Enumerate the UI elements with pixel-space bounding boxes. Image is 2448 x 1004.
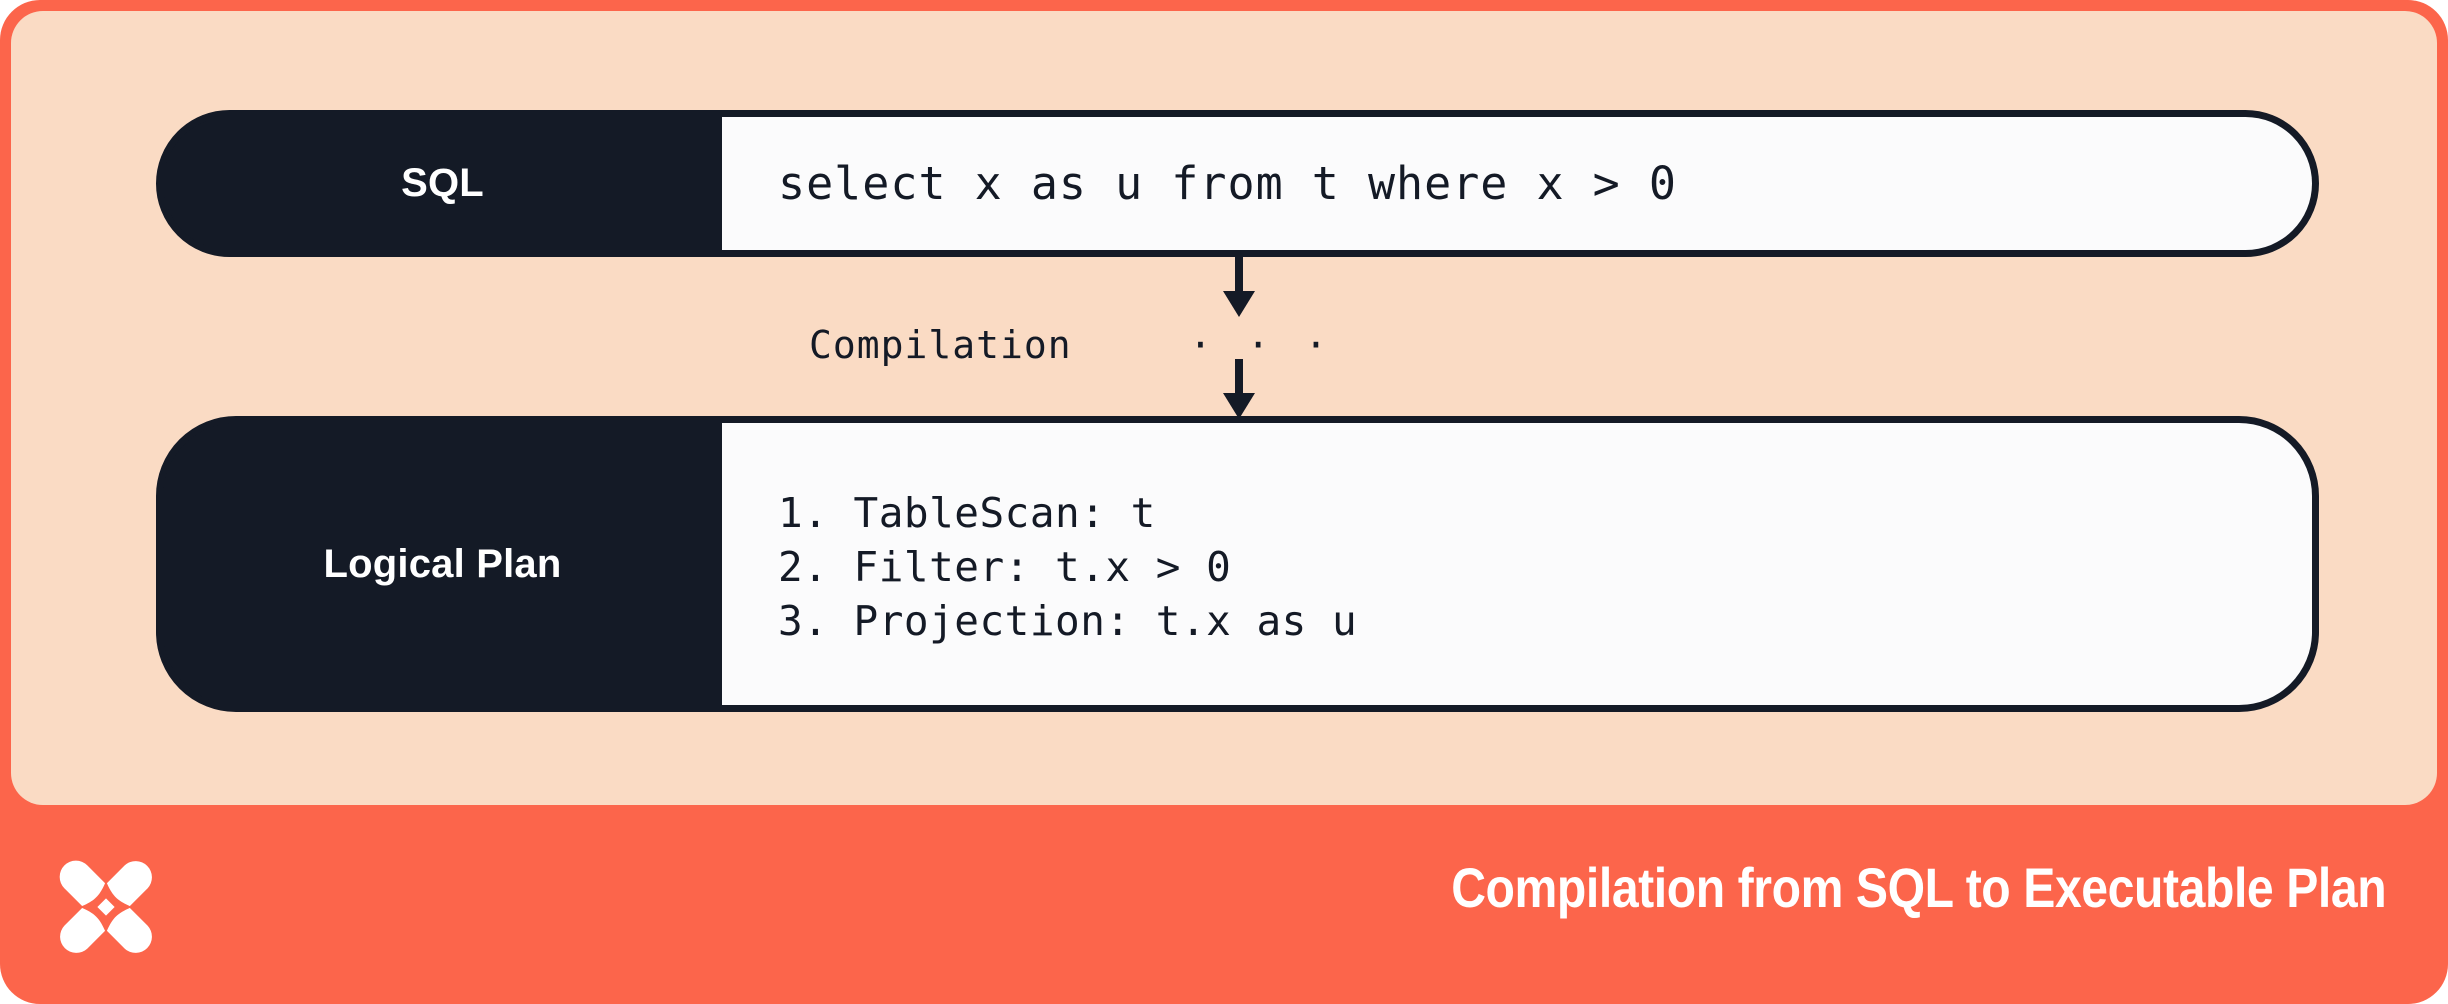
plan-step: 1. TableScan: t bbox=[778, 486, 2312, 540]
diagram-card: SQL select x as u from t where x > 0 Com… bbox=[11, 11, 2437, 805]
bottom-banner: Compilation from SQL to Executable Plan bbox=[0, 805, 2448, 1004]
plan-step: 3. Projection: t.x as u bbox=[778, 594, 2312, 648]
down-arrow-icon bbox=[1219, 257, 1259, 319]
compilation-ellipsis: · · · bbox=[1189, 323, 1333, 367]
banner-title: Compilation from SQL to Executable Plan bbox=[1451, 855, 2386, 920]
plan-step: 2. Filter: t.x > 0 bbox=[778, 540, 2312, 594]
poster-frame: SQL select x as u from t where x > 0 Com… bbox=[0, 0, 2448, 1004]
sql-statement: select x as u from t where x > 0 bbox=[778, 156, 2312, 211]
sql-row-label: SQL bbox=[163, 117, 722, 250]
logical-plan-row: Logical Plan 1. TableScan: t 2. Filter: … bbox=[156, 416, 2319, 712]
logical-plan-row-content: 1. TableScan: t 2. Filter: t.x > 0 3. Pr… bbox=[722, 423, 2312, 705]
compilation-label: Compilation bbox=[809, 323, 1072, 367]
down-arrow-icon bbox=[1219, 359, 1259, 421]
sql-row: SQL select x as u from t where x > 0 bbox=[156, 110, 2319, 257]
logical-plan-row-label: Logical Plan bbox=[163, 423, 722, 705]
sql-row-content: select x as u from t where x > 0 bbox=[722, 117, 2312, 250]
x-star-logo-icon bbox=[52, 853, 160, 961]
